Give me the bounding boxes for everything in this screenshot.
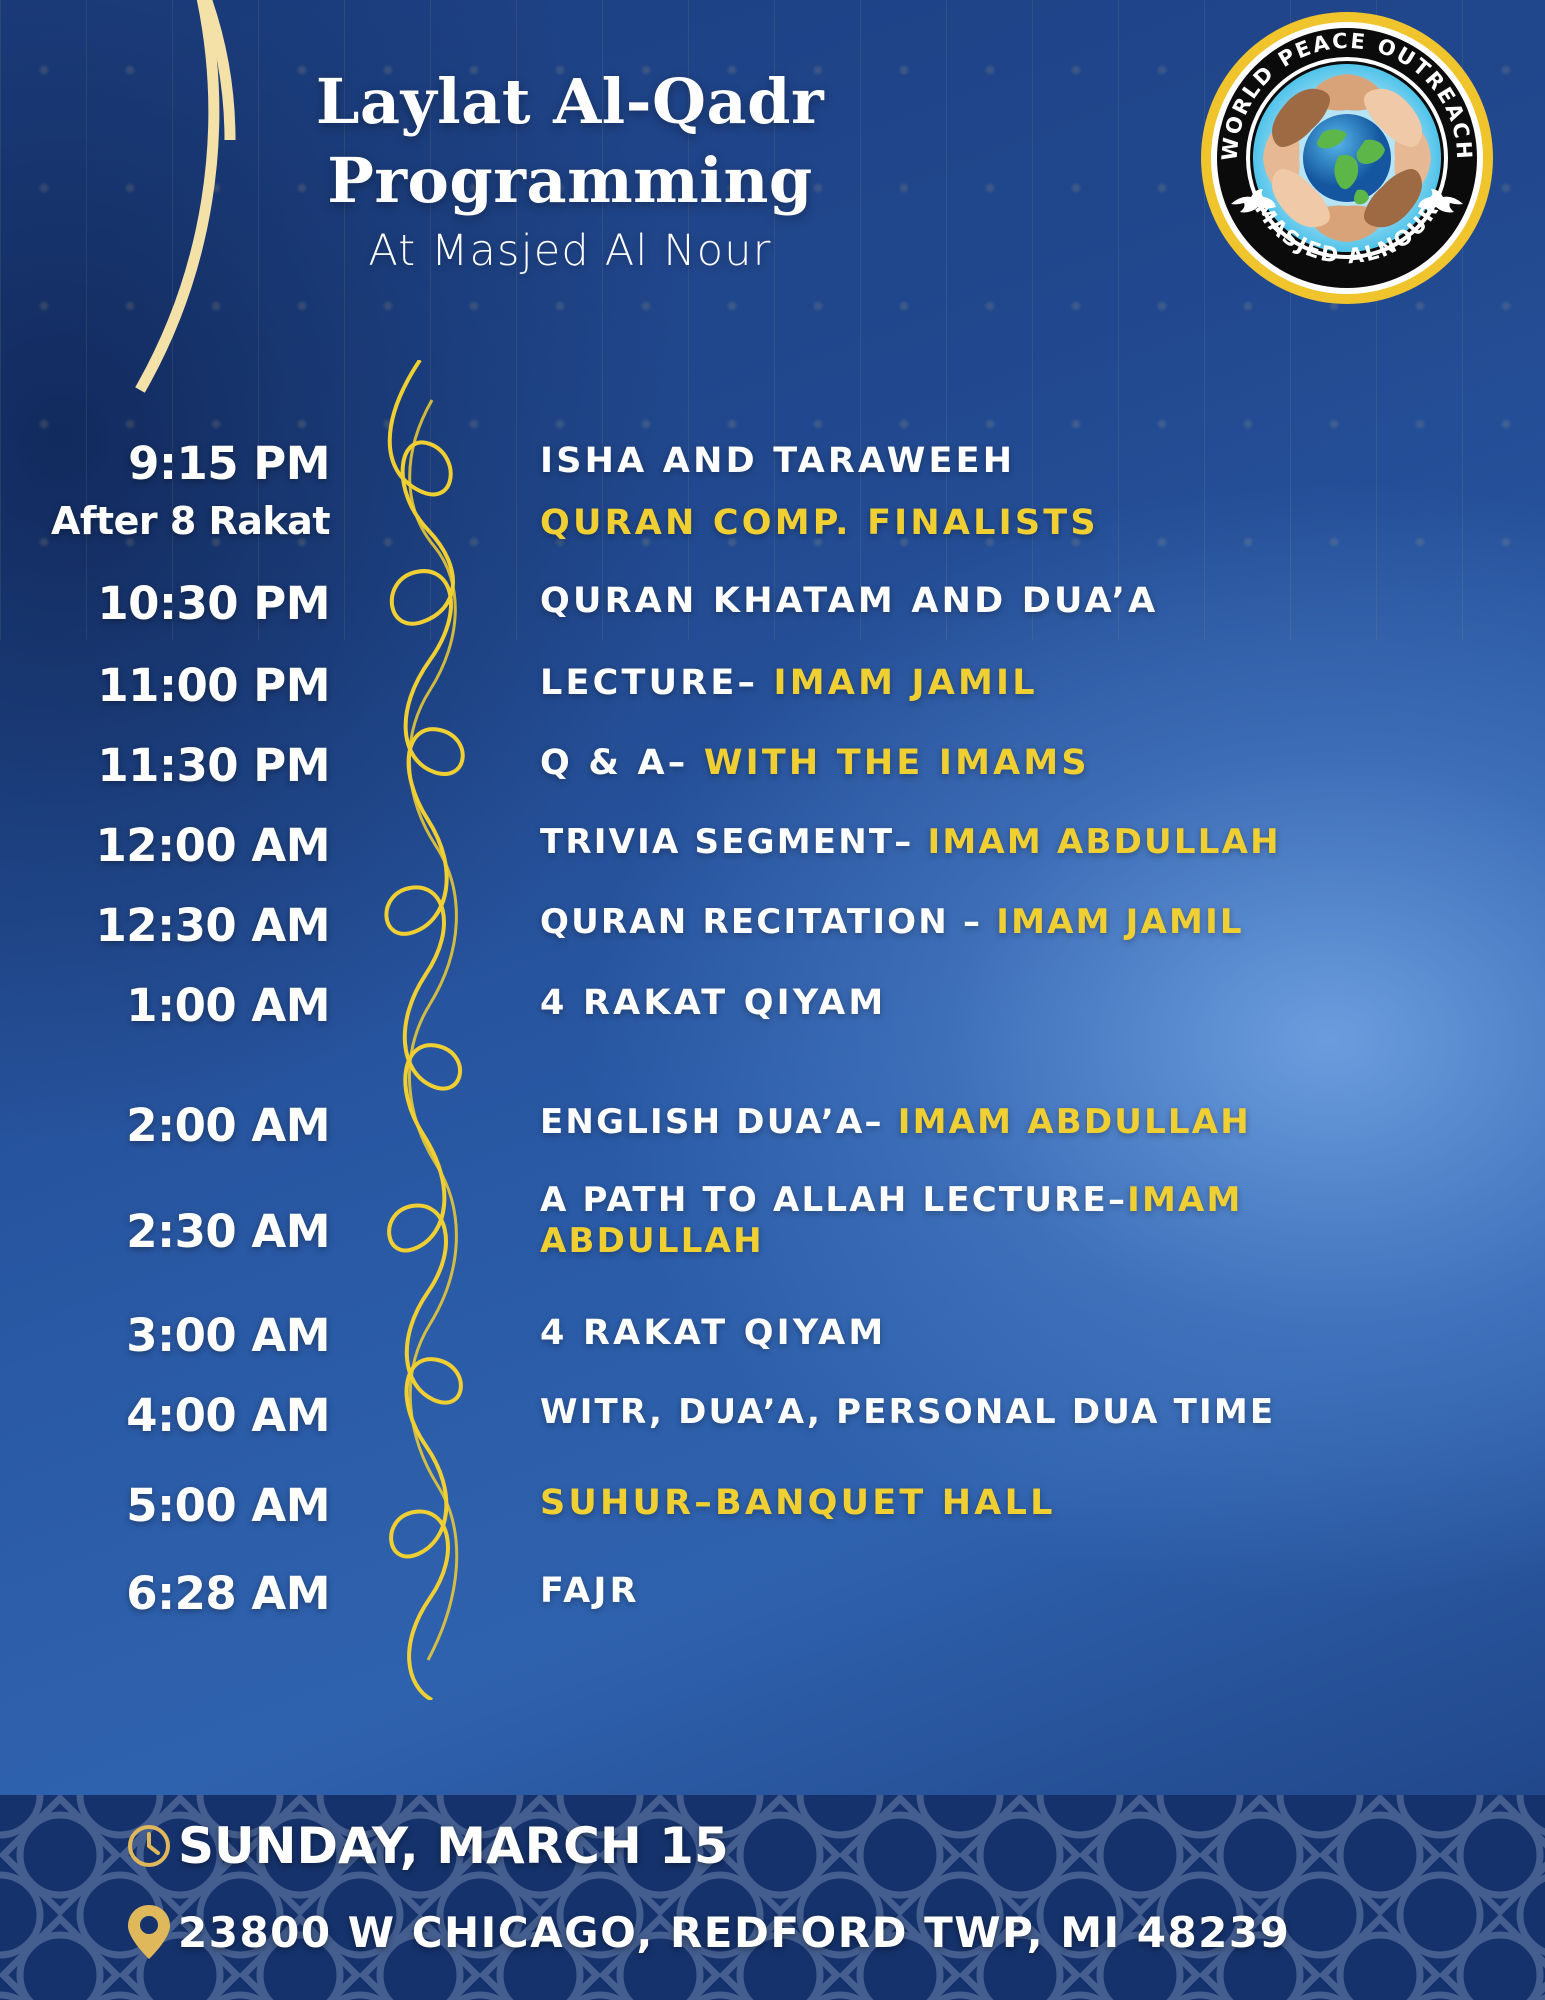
poster-footer: SUNDAY, MARCH 15 23800 W CHICAGO, REDFOR… [0,1795,1545,2000]
schedule-time: 12:30 AM [0,902,360,949]
schedule-description: QURAN COMP. FINALISTS [360,502,1545,545]
schedule-description: WITR, DUA’A, PERSONAL DUA TIME [360,1392,1545,1433]
schedule-desc-white: TRIVIA SEGMENT– [540,822,928,862]
schedule-description: ENGLISH DUA’A– IMAM ABDULLAH [360,1102,1545,1143]
schedule-row: 5:00 AM SUHUR–BANQUET HALL [0,1482,1545,1529]
schedule-desc-gold: IMAM ABDULLAH [898,1102,1251,1142]
page-subtitle: At Masjed Al Nour [280,226,860,276]
schedule-time: 1:00 AM [0,982,360,1029]
schedule-desc-gold: SUHUR–BANQUET HALL [540,1483,1056,1523]
schedule-description: A PATH TO ALLAH LECTURE–IMAM ABDULLAH [360,1180,1545,1263]
schedule-time: 11:00 PM [0,662,360,709]
schedule-description: TRIVIA SEGMENT– IMAM ABDULLAH [360,822,1545,863]
schedule-description: QURAN RECITATION – IMAM JAMIL [360,902,1545,943]
schedule-desc-white: ENGLISH DUA’A– [540,1102,898,1142]
schedule-row: 12:00 AM TRIVIA SEGMENT– IMAM ABDULLAH [0,822,1545,869]
schedule-description: LECTURE– IMAM JAMIL [360,662,1545,705]
schedule-desc-white: Q & A– [540,743,704,783]
schedule-time: 2:30 AM [0,1180,360,1255]
schedule-description: 4 RAKAT QIYAM [360,982,1545,1025]
schedule-row: 12:30 AM QURAN RECITATION – IMAM JAMIL [0,902,1545,949]
footer-date-row: SUNDAY, MARCH 15 [120,1817,729,1875]
schedule-row: 4:00 AM WITR, DUA’A, PERSONAL DUA TIME [0,1392,1545,1439]
schedule-desc-white: A PATH TO ALLAH LECTURE– [540,1180,1127,1220]
location-pin-icon [120,1903,178,1961]
schedule-desc-white: QURAN RECITATION – [540,902,996,942]
schedule-description: SUHUR–BANQUET HALL [360,1482,1545,1525]
schedule-desc-white: FAJR [540,1571,640,1611]
schedule-time: 12:00 AM [0,822,360,869]
schedule-description: ISHA AND TARAWEEH [360,440,1545,483]
schedule-desc-white: WITR, DUA’A, PERSONAL DUA TIME [540,1392,1275,1432]
schedule-time: 5:00 AM [0,1482,360,1529]
event-date: SUNDAY, MARCH 15 [178,1817,729,1875]
schedule-desc-gold: IMAM JAMIL [774,663,1038,703]
schedule-time: 6:28 AM [0,1570,360,1617]
schedule-desc-white: 4 RAKAT QIYAM [540,983,886,1023]
schedule-row: 1:00 AM 4 RAKAT QIYAM [0,982,1545,1029]
schedule-row: 11:30 PM Q & A– WITH THE IMAMS [0,742,1545,789]
schedule-list: 9:15 PM ISHA AND TARAWEEH After 8 Rakat … [0,440,1545,1740]
schedule-desc-white: ISHA AND TARAWEEH [540,441,1015,481]
clock-icon [120,1823,178,1869]
schedule-description: FAJR [360,1570,1545,1613]
poster-root: Laylat Al-Qadr Programming At Masjed Al … [0,0,1545,2000]
schedule-row: 2:00 AM ENGLISH DUA’A– IMAM ABDULLAH [0,1102,1545,1149]
schedule-row: 3:00 AM 4 RAKAT QIYAM [0,1312,1545,1359]
schedule-description: QURAN KHATAM AND DUA’A [360,580,1545,623]
schedule-time: 3:00 AM [0,1312,360,1359]
schedule-description: Q & A– WITH THE IMAMS [360,742,1545,785]
schedule-desc-white: LECTURE– [540,663,774,703]
schedule-desc-gold: IMAM ABDULLAH [928,822,1281,862]
schedule-desc-gold-wrap: ABDULLAH [540,1221,764,1261]
schedule-desc-white: 4 RAKAT QIYAM [540,1313,886,1353]
schedule-time-note: After 8 Rakat [0,502,360,542]
event-address: 23800 W CHICAGO, REDFORD TWP, MI 48239 [178,1908,1290,1957]
schedule-row: After 8 Rakat QURAN COMP. FINALISTS [0,502,1545,545]
page-title-line2: Programming [280,149,860,212]
page-title-line1: Laylat Al-Qadr [280,70,860,133]
schedule-row: 2:30 AM A PATH TO ALLAH LECTURE–IMAM ABD… [0,1180,1545,1263]
schedule-time: 4:00 AM [0,1392,360,1439]
footer-address-row: 23800 W CHICAGO, REDFORD TWP, MI 48239 [120,1903,1290,1961]
schedule-desc-gold: QURAN COMP. FINALISTS [540,503,1099,543]
schedule-time: 11:30 PM [0,742,360,789]
schedule-row: 6:28 AM FAJR [0,1570,1545,1617]
schedule-row: 11:00 PM LECTURE– IMAM JAMIL [0,662,1545,709]
schedule-desc-gold: IMAM [1127,1180,1242,1220]
organization-logo: WORLD PEACE OUTREACH MASJED ALNOUR [1197,8,1497,308]
schedule-desc-white: QURAN KHATAM AND DUA’A [540,581,1158,621]
schedule-time: 2:00 AM [0,1102,360,1149]
schedule-time: 10:30 PM [0,580,360,627]
title-block: Laylat Al-Qadr Programming At Masjed Al … [280,70,860,276]
schedule-time: 9:15 PM [0,440,360,487]
schedule-desc-gold: IMAM JAMIL [996,902,1244,942]
schedule-row: 10:30 PM QURAN KHATAM AND DUA’A [0,580,1545,627]
schedule-description: 4 RAKAT QIYAM [360,1312,1545,1355]
schedule-row: 9:15 PM ISHA AND TARAWEEH [0,440,1545,487]
schedule-desc-gold: WITH THE IMAMS [704,743,1090,783]
